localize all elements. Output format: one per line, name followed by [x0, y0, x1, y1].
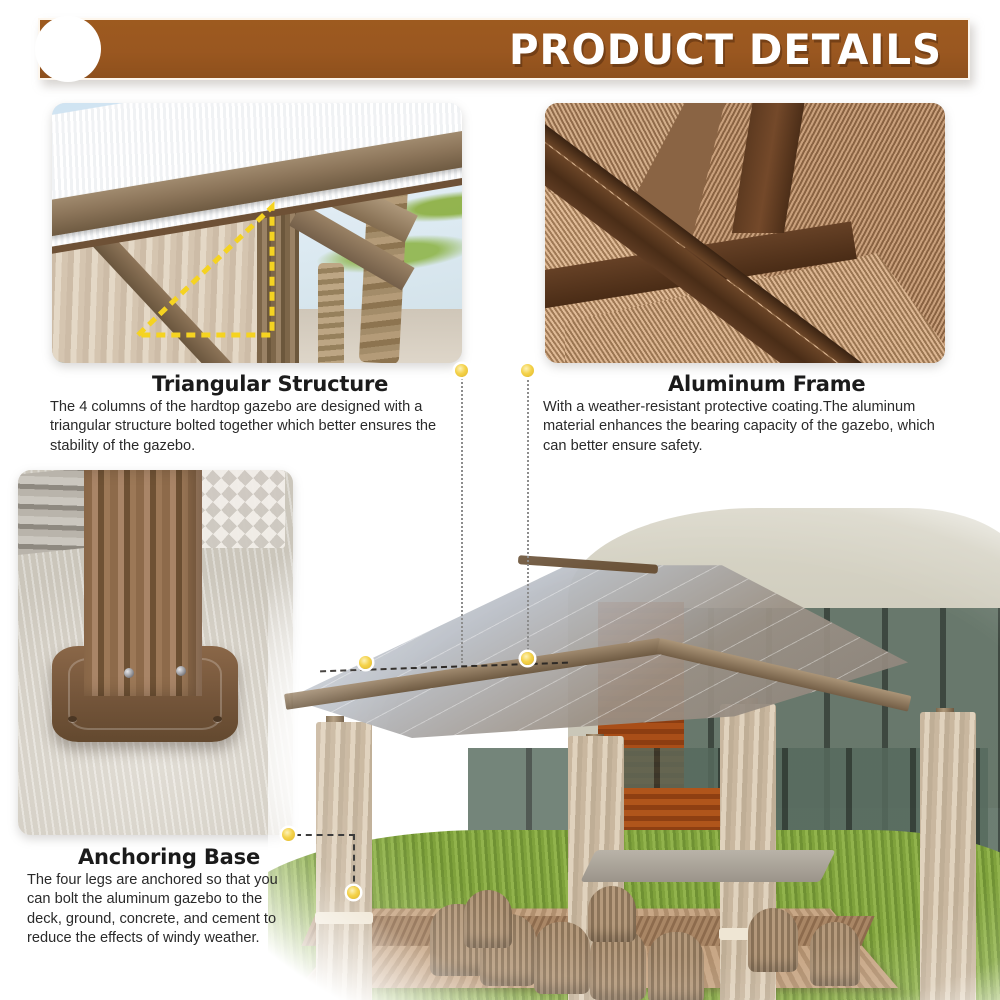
dining-chair [648, 932, 704, 1000]
aluminum-frame-photo-content [545, 103, 945, 363]
anchor-bolt-hole-right [213, 716, 222, 722]
connector-dot-triangular-top [455, 364, 468, 377]
triangular-structure-photo-content [52, 103, 462, 363]
connector-line-aluminum [527, 375, 529, 658]
connector-line-anchor-vertical [353, 834, 355, 892]
callout-body-anchoring-base: The four legs are anchored so that you c… [27, 871, 292, 949]
callout-body-triangular-structure: The 4 columns of the hardtop gazebo are … [50, 398, 462, 456]
hardtop-gazebo-lifestyle-photo [268, 498, 1000, 1000]
page-title: PRODUCT DETAILS [509, 20, 942, 82]
connector-dot-aluminum-bottom [521, 652, 534, 665]
yellow-triangle-highlight-icon [132, 199, 277, 341]
header-banner: PRODUCT DETAILS [38, 18, 970, 80]
connector-dot-anchor-end [347, 886, 360, 899]
connector-line-triangular [461, 375, 463, 663]
callout-body-aluminum-frame: With a weather-resistant protective coat… [543, 398, 953, 456]
post-bolt-right [176, 666, 186, 676]
dining-chair [534, 922, 590, 994]
banner-notch-circle [35, 16, 101, 82]
anchoring-base-photo-content [18, 470, 293, 835]
callout-title-anchoring-base: Anchoring Base [78, 845, 260, 869]
callout-title-triangular-structure: Triangular Structure [152, 372, 388, 396]
gazebo-curtain-rear-right [920, 712, 976, 1000]
anchoring-base-photo [18, 470, 293, 835]
connector-dot-triangular-bottom [359, 656, 372, 669]
dining-chair [588, 886, 636, 942]
post-bolt-left [124, 668, 134, 678]
gazebo-post-column [84, 470, 202, 696]
callout-title-aluminum-frame: Aluminum Frame [668, 372, 865, 396]
aluminum-frame-photo [545, 103, 945, 363]
palm-trunk-secondary [318, 263, 344, 363]
curtain-tieback-left [315, 912, 373, 924]
banner-body: PRODUCT DETAILS [38, 18, 970, 80]
connector-line-anchor-horizontal [295, 834, 355, 836]
outdoor-dining-table [580, 850, 836, 882]
gazebo-curtain-front-left [316, 722, 372, 1000]
dining-chair [810, 922, 860, 986]
anchor-bolt-hole-left [68, 716, 77, 722]
connector-dot-anchor-start [282, 828, 295, 841]
dining-chair [464, 890, 512, 948]
connector-dot-aluminum-top [521, 364, 534, 377]
triangular-structure-photo [52, 103, 462, 363]
dining-chair [748, 908, 798, 972]
